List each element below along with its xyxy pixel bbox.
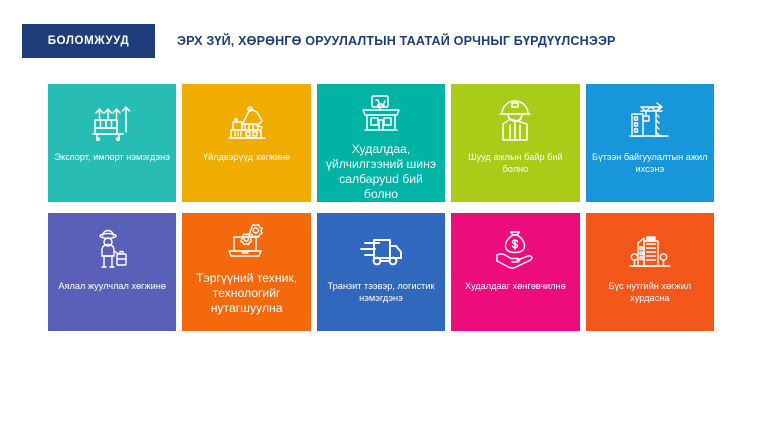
laptop-gears-icon: [223, 221, 271, 267]
benefit-card-label: Тэргүүний техник, технологийг нутагшуулн…: [182, 271, 310, 316]
benefit-card-label: Транзит тээвэр, логистик нэмэгдэнэ: [317, 281, 445, 305]
benefit-card-label: Аялал жуулчлал хөгжинө: [52, 281, 172, 293]
boxes-arrows-up-icon: [89, 96, 135, 148]
construction-crane-icon: [628, 96, 672, 148]
delivery-truck-icon: [357, 225, 405, 277]
benefit-card-label: Бүтээн байгуулалтын ажил ихсэнэ: [586, 152, 714, 176]
benefit-card-tourism[interactable]: Аялал жуулчлал хөгжинө: [48, 213, 176, 331]
benefit-card-technology[interactable]: Тэргүүний техник, технологийг нутагшуулн…: [182, 213, 310, 331]
city-buildings-icon: [627, 225, 673, 277]
benefit-card-label: Худалдааг хөнгөвчилнө: [459, 281, 572, 293]
benefit-card-export-import[interactable]: Экспорт, импорт нэмэгдэнэ: [48, 84, 176, 202]
benefit-card-label: Бүс нутгийн хөгжил хурдасна: [586, 281, 714, 305]
benefit-card-label: Худалдаа, үйлчилгээний шинэ салбаруud би…: [317, 142, 445, 202]
benefit-card-trade-facilitation[interactable]: Худалдааг хөнгөвчилнө: [451, 213, 579, 331]
storefront-cart-icon: [358, 92, 404, 138]
section-badge: БОЛОМЖУУД: [22, 24, 155, 58]
infographic-slide: БОЛОМЖУУД ЭРХ ЗҮЙ, ХӨРӨНГӨ ОРУУЛАЛТЫН ТА…: [0, 0, 768, 432]
benefit-card-label: Үйлдвэрүүд хөгжинө: [197, 152, 296, 164]
benefit-card-regional-development[interactable]: Бүс нутгийн хөгжил хурдасна: [586, 213, 714, 331]
tourist-traveler-icon: [91, 225, 133, 277]
slide-header: БОЛОМЖУУД ЭРХ ЗҮЙ, ХӨРӨНГӨ ОРУУЛАЛТЫН ТА…: [0, 24, 768, 58]
hand-money-bag-icon: [491, 225, 539, 277]
benefit-card-factories[interactable]: Үйлдвэрүүд хөгжинө: [182, 84, 310, 202]
page-title: ЭРХ ЗҮЙ, ХӨРӨНГӨ ОРУУЛАЛТЫН ТААТАЙ ОРЧНЫ…: [177, 24, 616, 58]
section-badge-label: БОЛОМЖУУД: [48, 35, 130, 47]
benefit-card-construction[interactable]: Бүтээн байгуулалтын ажил ихсэнэ: [586, 84, 714, 202]
worker-helmet-icon: [494, 96, 536, 148]
benefit-card-direct-jobs[interactable]: Шууд ажлын байр бий болно: [451, 84, 579, 202]
benefit-card-grid: Экспорт, импорт нэмэгдэнэ: [48, 84, 714, 331]
benefit-card-trade-services[interactable]: Худалдаа, үйлчилгээний шинэ салбаруud би…: [317, 84, 445, 202]
benefit-card-logistics[interactable]: Транзит тээвэр, логистик нэмэгдэнэ: [317, 213, 445, 331]
benefit-card-label: Шууд ажлын байр бий болно: [451, 152, 579, 176]
benefit-card-label: Экспорт, импорт нэмэгдэнэ: [48, 152, 175, 164]
factory-robot-arm-icon: [223, 96, 271, 148]
